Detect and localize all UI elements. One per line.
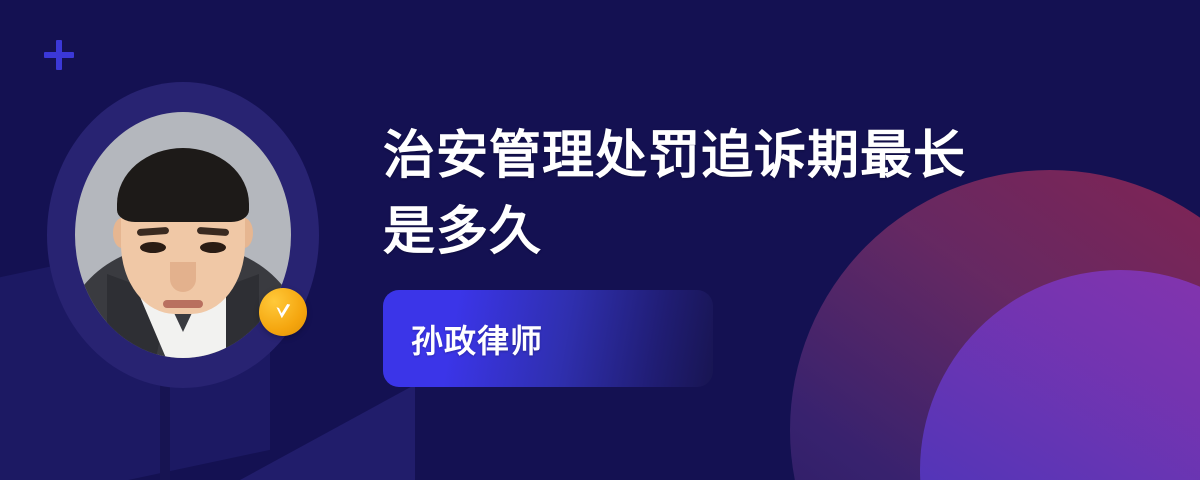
- page-title: 治安管理处罚追诉期最长 是多久: [383, 118, 1083, 270]
- portrait-eye-left: [140, 242, 166, 253]
- author-button[interactable]: 孙政律师: [383, 290, 713, 387]
- avatar-photo: [75, 112, 291, 358]
- plus-icon: [44, 40, 74, 70]
- portrait-hair: [117, 148, 249, 222]
- portrait-nose: [170, 262, 196, 292]
- content-block: 治安管理处罚追诉期最长 是多久 孙政律师: [383, 118, 1083, 387]
- avatar[interactable]: [47, 82, 319, 388]
- author-name-label: 孙政律师: [411, 316, 543, 362]
- plus-icon-vertical-bar: [56, 40, 62, 70]
- verified-badge-icon: [259, 288, 307, 336]
- portrait-mouth: [163, 300, 203, 308]
- lawyer-qa-banner: 治安管理处罚追诉期最长 是多久 孙政律师: [0, 0, 1200, 480]
- portrait-eye-right: [200, 242, 226, 253]
